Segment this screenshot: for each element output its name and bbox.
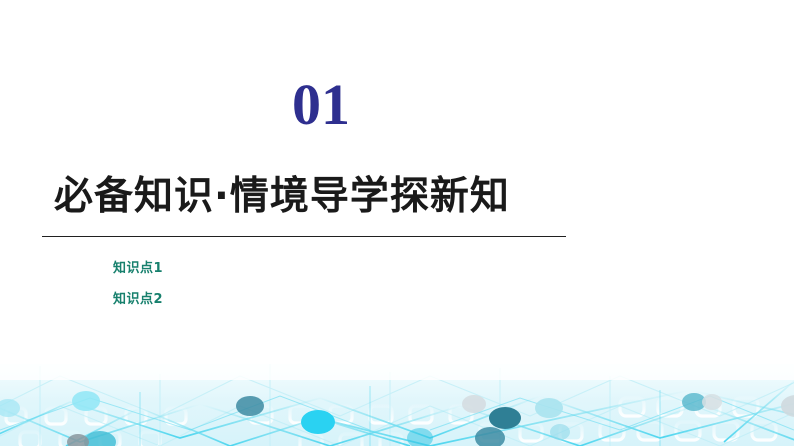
tech-network-decoration xyxy=(0,346,794,446)
slide-canvas: 01 必备知识·情境导学探新知 知识点1 知识点2 xyxy=(0,0,794,446)
lattice-outlines xyxy=(0,364,794,446)
title-divider xyxy=(42,236,566,237)
section-number: 01 xyxy=(292,74,350,136)
list-item[interactable]: 知识点2 xyxy=(113,284,413,315)
connector-lines xyxy=(0,360,794,446)
list-item[interactable]: 知识点1 xyxy=(113,253,413,284)
decoration-svg xyxy=(0,346,794,446)
page-title: 必备知识·情境导学探新知 xyxy=(54,173,510,221)
tile-grid xyxy=(6,398,776,446)
network-nodes xyxy=(0,391,794,446)
knowledge-point-list: 知识点1 知识点2 xyxy=(113,253,413,315)
